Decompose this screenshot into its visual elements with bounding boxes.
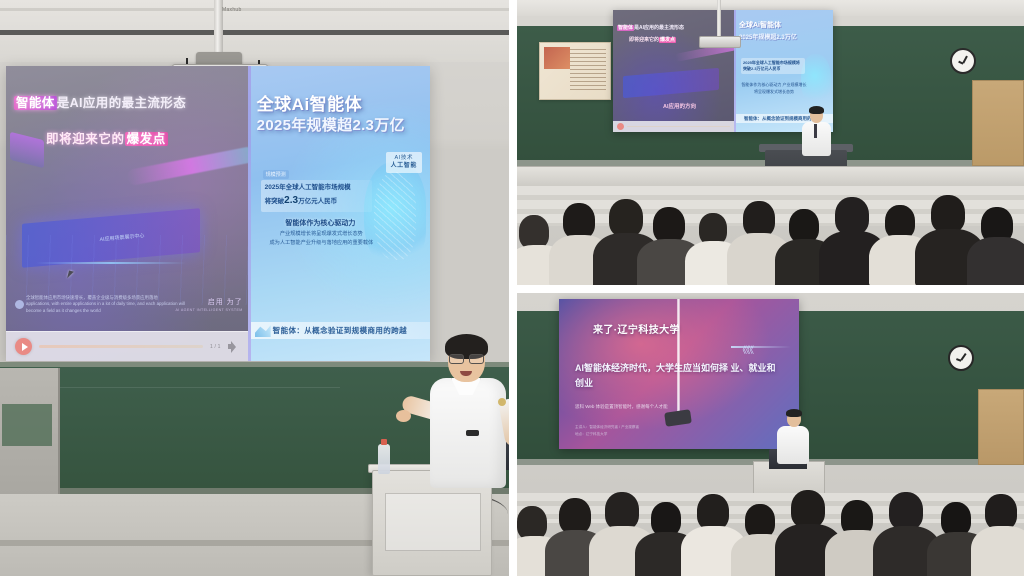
- slide-hall-title: 全球Ai智能体: [739, 20, 831, 30]
- presenter-main: [418, 338, 509, 488]
- audience-head: [789, 209, 819, 243]
- slide-hall-subheadline-prefix: 即将迎来它的: [629, 37, 659, 43]
- driver-detail-line1: 产业规模增长将呈现爆发式增长态势: [280, 231, 363, 237]
- slide-brand-name: 启用 为了: [208, 299, 243, 306]
- lecture-hall-wide: 智能体是AI应用的最主流形态 即将迎来它的爆发点 AI应用的方向: [517, 0, 1024, 285]
- driver-detail: 产业规模增长将呈现爆发式增长态势 成为人工智能产业升级与落地应用的重要载体: [261, 230, 382, 249]
- gutter-vertical: [509, 0, 517, 576]
- chevron-left-icon: 《《《: [738, 343, 753, 356]
- hall-progress-track: [627, 126, 730, 128]
- lecture-room-main: Maxhub 智能体是AI应用的最主流形态 即将迎来它的爆发点 A: [0, 0, 509, 576]
- slide-hall-label: AI应用的方向: [635, 102, 724, 110]
- audience-group-title-photo: [517, 466, 1024, 576]
- title-slide-footer: 主讲人：智能体经济研究者 / 产业观察者 地点：辽宁科技大学: [575, 424, 679, 437]
- slide-left-half: 智能体是AI应用的最主流形态 即将迎来它的爆发点 AI应用场景展示中心: [6, 66, 248, 361]
- hall-media-player-bar: [613, 121, 734, 132]
- projection-screen-main: 智能体是AI应用的最主流形态 即将迎来它的爆发点 AI应用场景展示中心: [6, 66, 430, 361]
- slide-subheadline-mark: 爆发点: [125, 132, 168, 146]
- presenter-title-hair: [786, 409, 802, 417]
- audience-head: [941, 502, 971, 536]
- corkboard: [978, 389, 1024, 465]
- audience-head: [517, 506, 547, 540]
- market-stat-prefix: 将突破: [265, 198, 285, 205]
- driver-title: 智能体作为核心驱动力: [263, 218, 378, 228]
- slide-footnote-en: applications, with entire applications i…: [26, 301, 185, 313]
- presenter-microphone: [466, 430, 479, 436]
- slide-hall-headline: 智能体是AI应用的最主流形态: [617, 24, 731, 31]
- audience-head: [653, 207, 685, 243]
- market-stat-block: 2025年全球人工智能市场规模 将突破2.3万亿元人民币: [261, 180, 372, 212]
- hall-wide-photo: 智能体是AI应用的最主流形态 即将迎来它的爆发点 AI应用的方向: [517, 0, 1024, 285]
- chalk-mark: [40, 387, 340, 388]
- projector-brand-label: Maxhub: [222, 7, 242, 13]
- media-player-bar[interactable]: 1 / 1: [6, 331, 248, 361]
- slide-headline-mark: 智能体: [14, 96, 57, 110]
- mountain-icon: [255, 324, 271, 337]
- market-stat-suffix: 万亿元人民币: [298, 198, 337, 205]
- title-slide-heading: 来了·辽宁科技大学: [593, 321, 791, 336]
- projection-screen-title: 来了·辽宁科技大学 《《《 AI智能体经济时代，大学生应当如何择 业、就业和创业…: [559, 299, 799, 449]
- hall-driver-detail: 智能体作为核心驱动力 产业规模增长将呈现爆发式增长态势: [741, 82, 807, 96]
- title-slide-sub: 思科 Web 体验是置顶智能时，感谢每个人才能: [575, 403, 769, 411]
- presenter-hall-tie: [814, 124, 817, 138]
- podium-front-panel: [385, 493, 481, 551]
- play-icon[interactable]: [15, 338, 32, 355]
- forecast-tag: 规模预测: [263, 170, 289, 179]
- presenter-left-hand: [396, 410, 411, 422]
- hall-projector-body: [699, 36, 741, 48]
- photo-collage: Maxhub 智能体是AI应用的最主流形态 即将迎来它的爆发点 A: [0, 0, 1024, 576]
- ai-badge-small: AI技术: [394, 155, 413, 161]
- slide-subheadline-prefix: 即将迎来它的: [46, 132, 125, 146]
- audience-head: [609, 199, 643, 237]
- audience-head: [791, 490, 825, 528]
- ai-badge-label: 人工智能: [391, 162, 417, 171]
- slide-subheadline: 即将迎来它的爆发点: [46, 128, 168, 147]
- hall-decor-slab: [623, 68, 719, 98]
- slide-footnote: 全球智能体应用市场快速增长，覆盖企业级与消费级多场景应用落地 applicati…: [26, 295, 198, 315]
- decor-beam-primary: [126, 146, 257, 187]
- audience-head: [559, 498, 591, 534]
- audience-head: [651, 502, 681, 536]
- audience-head: [519, 215, 549, 249]
- slide-right-subtitle: 2025年规模超2.3万亿: [257, 114, 426, 135]
- presenter-hall: [799, 108, 833, 160]
- slide-hall-subheadline-mark: 爆发点: [659, 37, 676, 43]
- slide-right-title: 全球Ai智能体: [257, 90, 426, 115]
- audience-head: [563, 203, 595, 239]
- title-accent-bar: [731, 346, 791, 348]
- audience-head: [697, 494, 729, 530]
- title-slide-footer-line2: 地点：辽宁科技大学: [575, 432, 607, 436]
- audience-shoulder: [971, 526, 1024, 576]
- wall-poster: [539, 42, 611, 100]
- market-stat-line1: 2025年全球人工智能市场规模: [265, 184, 351, 191]
- slide-headline: 智能体是AI应用的最主流形态: [14, 96, 242, 111]
- slide-hall-headline-rest: 是AI应用的最主流形态: [634, 25, 684, 31]
- market-stat-value: 2.3: [284, 195, 298, 206]
- audience-group: [517, 173, 1024, 285]
- ceiling-beam: [0, 30, 509, 35]
- slide-footnote-cn: 全球智能体应用市场快速增长，覆盖企业级与消费级多场景应用落地: [26, 295, 158, 300]
- slide-bottom-text: 智能体：从概念验证到规模商用的跨越: [273, 325, 407, 336]
- player-time: 1 / 1: [210, 344, 221, 350]
- volume-icon[interactable]: [228, 341, 239, 352]
- corkboard: [972, 80, 1024, 166]
- progress-track[interactable]: [39, 345, 203, 348]
- ceiling-trim: [0, 8, 509, 11]
- lecture-hall-title: 来了·辽宁科技大学 《《《 AI智能体经济时代，大学生应当如何择 业、就业和创业…: [517, 293, 1024, 576]
- glasses-icon: [449, 354, 484, 362]
- side-board-panel: [2, 404, 52, 446]
- slide-right-half: 全球Ai智能体 2025年规模超2.3万亿 AI技术 人工智能 规模预测 202…: [248, 66, 430, 361]
- wall-clock-icon: [948, 345, 974, 371]
- wall-clock-icon: [950, 48, 976, 74]
- presenter-title-torso: [777, 426, 809, 464]
- hall-play-icon: [617, 123, 624, 130]
- audience-head: [835, 197, 869, 235]
- ceiling: [0, 0, 509, 62]
- title-slide-main-line1: AI智能体经济时代，大学生应当如何择: [575, 363, 728, 373]
- hall-ai-head-graphic: [801, 54, 831, 106]
- audience-head: [885, 205, 915, 239]
- ai-head-graphic: [364, 162, 426, 270]
- water-bottle: [378, 444, 390, 474]
- presenter-shirt-logo: [498, 398, 506, 406]
- slide-brand: 启用 为了 AI AGENT INTELLIGENT SYSTEM: [175, 298, 242, 313]
- slide-hall-subheadline: 即将迎来它的爆发点: [629, 36, 676, 43]
- slide-headline-rest: 是AI应用的最主流形态: [57, 96, 186, 110]
- slide-main: 智能体是AI应用的最主流形态 即将迎来它的爆发点 AI应用场景展示中心: [6, 66, 430, 361]
- gutter-horizontal: [517, 285, 1024, 293]
- audience-head: [605, 492, 639, 530]
- main-lecture-photo: Maxhub 智能体是AI应用的最主流形态 即将迎来它的爆发点 A: [0, 0, 509, 576]
- slide-hall-subtitle: 2025年规模超2.3万亿: [739, 32, 831, 41]
- title-slide-footer-line1: 主讲人：智能体经济研究者 / 产业观察者: [575, 425, 639, 429]
- audience-head: [745, 504, 775, 538]
- slide-brand-sub: AI AGENT INTELLIGENT SYSTEM: [175, 308, 242, 313]
- bullet-icon: [15, 300, 24, 309]
- hall-market-stat: 2025年全球人工智能市场规模将突破2.3万亿元人民币: [741, 58, 805, 74]
- presenter-hall-hair: [809, 106, 824, 114]
- projector-pole-overlay: [677, 299, 680, 417]
- slide-bottom-bar: 智能体：从概念验证到规模商用的跨越: [251, 322, 430, 339]
- audience-head: [985, 494, 1017, 530]
- driver-detail-line2: 成为人工智能产业升级与落地应用的重要载体: [269, 240, 373, 246]
- hall-projector-pole: [717, 0, 721, 40]
- audience-head: [889, 492, 923, 530]
- projector-body-overlay: [664, 409, 692, 426]
- decor-beam-secondary: [10, 132, 44, 168]
- hall-title-slide-photo: 来了·辽宁科技大学 《《《 AI智能体经济时代，大学生应当如何择 业、就业和创业…: [517, 293, 1024, 576]
- audience-shoulder: [967, 237, 1024, 285]
- slide-hall-headline-mark: 智能体: [617, 25, 634, 31]
- presenter-title-photo: [775, 411, 811, 467]
- audience-head: [931, 195, 965, 233]
- slide-hall-left: 智能体是AI应用的最主流形态 即将迎来它的爆发点 AI应用的方向: [613, 10, 734, 132]
- audience-head: [743, 201, 775, 237]
- ai-badge: AI技术 人工智能: [386, 152, 422, 173]
